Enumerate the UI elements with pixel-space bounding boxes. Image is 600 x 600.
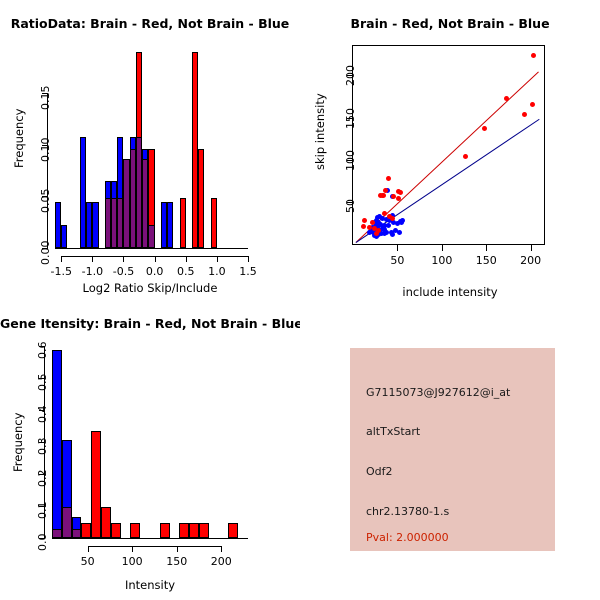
x-axis-tick bbox=[186, 256, 187, 262]
x-axis-tick-label: 0.5 bbox=[177, 265, 195, 278]
info-event-type: altTxStart bbox=[366, 425, 420, 438]
x-axis-tick bbox=[177, 546, 178, 552]
x-axis-tick bbox=[221, 546, 222, 552]
panel-gene-histogram: Gene Itensity: Brain - Red, Not Brain - … bbox=[0, 300, 300, 600]
x-axis-tick-label: 1.0 bbox=[208, 265, 226, 278]
y-axis-tick-label: 0.3 bbox=[36, 438, 49, 456]
ratio-histogram-axes: 0.000.050.100.15-1.5-1.0-0.50.00.51.01.5 bbox=[0, 0, 300, 300]
x-axis-tick-label: 100 bbox=[431, 254, 452, 267]
x-axis-tick bbox=[217, 256, 218, 262]
x-axis-tick-label: 50 bbox=[390, 254, 404, 267]
x-axis-tick bbox=[132, 546, 133, 552]
histogram-baseline bbox=[55, 248, 248, 249]
x-axis-tick-label: 0.0 bbox=[146, 265, 164, 278]
x-axis-line bbox=[88, 546, 222, 547]
x-axis-tick bbox=[88, 546, 89, 552]
info-locus: chr2.13780-1.s bbox=[366, 505, 449, 518]
x-axis-tick-label: 200 bbox=[520, 254, 541, 267]
x-axis-tick-label: 150 bbox=[166, 555, 187, 568]
gene-histogram-axes: 0.00.10.20.30.40.50.650100150200 bbox=[0, 300, 300, 600]
y-axis-tick-label: 0.6 bbox=[36, 342, 49, 360]
histogram-baseline bbox=[52, 538, 248, 539]
x-axis-tick-label: 50 bbox=[81, 555, 95, 568]
y-axis-line bbox=[47, 93, 48, 248]
x-axis-tick-label: 200 bbox=[211, 555, 232, 568]
gene-info-panel: G7115073@J927612@i_at altTxStart Odf2 ch… bbox=[350, 348, 555, 551]
y-axis-tick-label: 200 bbox=[344, 65, 357, 86]
y-axis-tick-label: 100 bbox=[344, 150, 357, 171]
x-axis-tick bbox=[123, 256, 124, 262]
y-axis-tick-label: 50 bbox=[344, 199, 357, 213]
y-axis-tick-label: 0.4 bbox=[36, 406, 49, 424]
y-axis-tick-label: 0.10 bbox=[39, 137, 52, 162]
info-probe-id: G7115073@J927612@i_at bbox=[366, 386, 510, 399]
y-axis-tick-label: 0.5 bbox=[36, 374, 49, 392]
x-axis-tick-label: 1.5 bbox=[239, 265, 257, 278]
y-axis-tick-label: 0.1 bbox=[36, 502, 49, 520]
x-axis-tick bbox=[248, 256, 249, 262]
info-gene-symbol: Odf2 bbox=[366, 465, 393, 478]
x-axis-tick-label: 100 bbox=[122, 555, 143, 568]
y-axis-tick-label: 0.00 bbox=[39, 241, 52, 266]
x-axis-tick-label: -1.0 bbox=[82, 265, 103, 278]
x-axis-tick-label: 150 bbox=[476, 254, 497, 267]
figure-canvas: RatioData: Brain - Red, Not Brain - Blue… bbox=[0, 0, 600, 600]
x-axis-tick bbox=[155, 256, 156, 262]
y-axis-tick-label: 0.0 bbox=[36, 534, 49, 552]
y-axis-tick-label: 0.05 bbox=[39, 189, 52, 214]
x-axis-tick-label: -0.5 bbox=[113, 265, 134, 278]
panel-ratio-histogram: RatioData: Brain - Red, Not Brain - Blue… bbox=[0, 0, 300, 300]
y-axis-tick-label: 0.2 bbox=[36, 470, 49, 488]
x-axis-tick bbox=[61, 256, 62, 262]
x-axis-tick bbox=[92, 256, 93, 262]
x-axis-tick bbox=[531, 245, 532, 251]
y-axis-tick-label: 0.15 bbox=[39, 86, 52, 111]
x-axis-tick bbox=[486, 245, 487, 251]
y-axis-tick-label: 150 bbox=[344, 108, 357, 129]
scatter-axes: 5010015020050100150200 bbox=[300, 0, 600, 300]
panel-intensity-scatter: Brain - Red, Not Brain - Blue skip inten… bbox=[300, 0, 600, 300]
x-axis-tick bbox=[397, 245, 398, 251]
info-pvalue: Pval: 2.000000 bbox=[366, 531, 449, 544]
x-axis-tick bbox=[442, 245, 443, 251]
x-axis-tick-label: -1.5 bbox=[50, 265, 71, 278]
